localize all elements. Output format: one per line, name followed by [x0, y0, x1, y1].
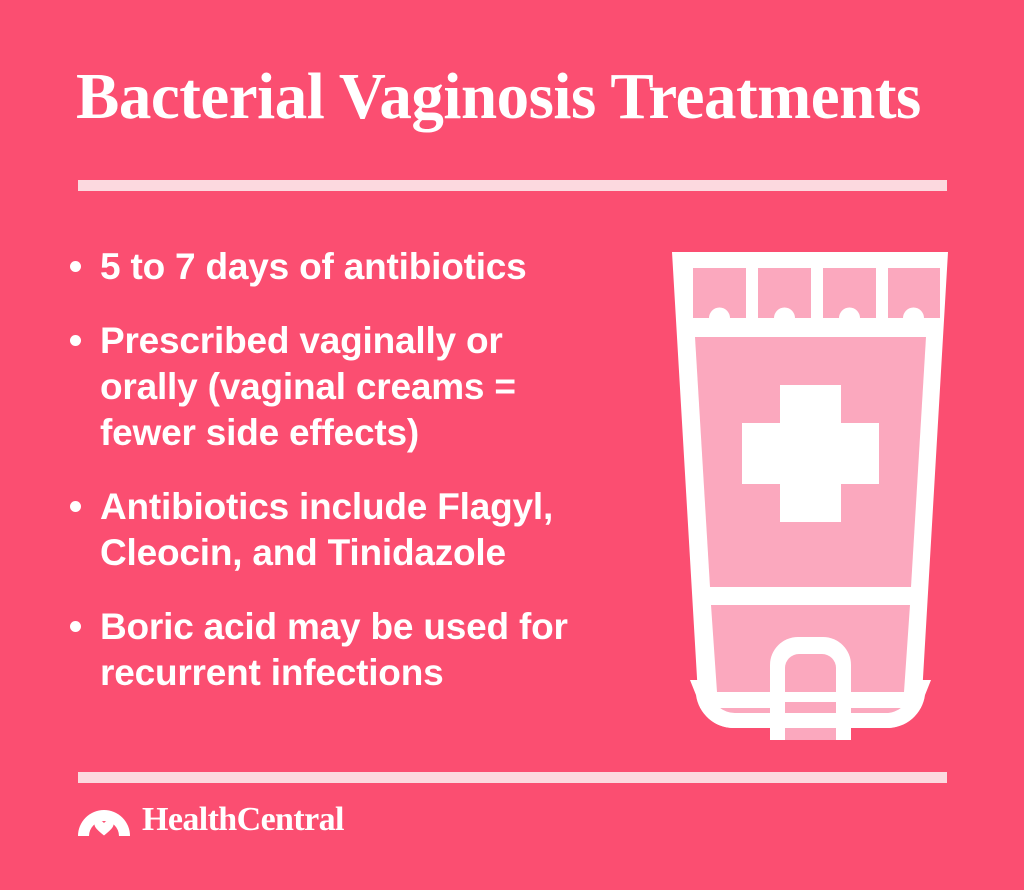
page-title: Bacterial Vaginosis Treatments: [76, 58, 943, 136]
bullet-dot-icon: [70, 261, 81, 272]
cream-tube-graphic: [660, 240, 960, 740]
top-divider-rule: [78, 180, 947, 191]
bullet-dot-icon: [70, 621, 81, 632]
list-item: Prescribed vaginally or orally (vaginal …: [70, 318, 650, 456]
list-item: 5 to 7 days of antibiotics: [70, 244, 650, 290]
treatments-bullet-list: 5 to 7 days of antibiotics Prescribed va…: [70, 244, 650, 696]
list-item-label: 5 to 7 days of antibiotics: [100, 244, 527, 290]
bullet-dot-icon: [70, 335, 81, 346]
list-item-label: Boric acid may be used for recurrent inf…: [100, 604, 605, 696]
list-item-label: Prescribed vaginally or orally (vaginal …: [100, 318, 605, 456]
bullet-dot-icon: [70, 501, 81, 512]
list-item: Antibiotics include Flagyl, Cleocin, and…: [70, 484, 650, 576]
list-item: Boric acid may be used for recurrent inf…: [70, 604, 650, 696]
list-item-label: Antibiotics include Flagyl, Cleocin, and…: [100, 484, 605, 576]
healthcentral-logo[interactable]: HealthCentral: [78, 803, 344, 837]
heart-shape: [95, 820, 114, 836]
healthcentral-arch-heart-icon: [78, 804, 130, 836]
bottom-divider-rule: [78, 772, 947, 783]
healthcentral-wordmark: HealthCentral: [142, 803, 344, 837]
medicine-cream-tube-icon: [660, 240, 960, 740]
infographic-canvas: Bacterial Vaginosis Treatments 5 to 7 da…: [0, 0, 1024, 890]
